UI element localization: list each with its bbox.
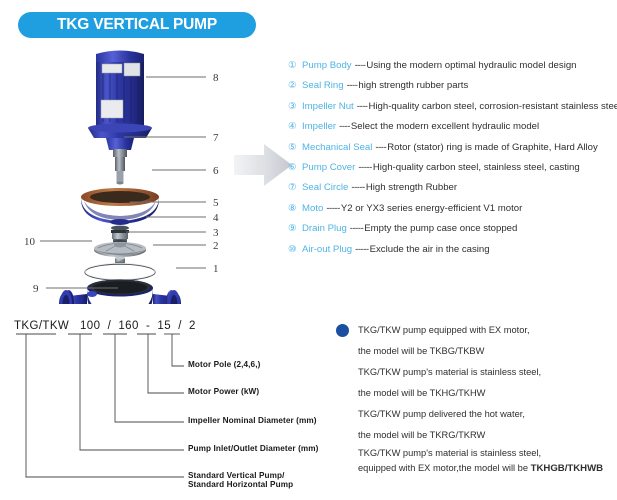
legend-description: High-quality carbon steel, corrosion-res… xyxy=(369,101,617,112)
model-variant-notes: TKG/TKW pump equipped with EX motor, the… xyxy=(334,320,617,476)
legend-dash: ---- xyxy=(375,142,386,153)
legend-description: Select the modern excellent hydraulic mo… xyxy=(351,121,539,132)
legend-part-name: Impeller Nut xyxy=(302,101,354,112)
note-line: TKG/TKW pump's material is stainless ste… xyxy=(358,446,617,461)
legend-item: ⑩ Air-out Plug ----- Exclude the air in … xyxy=(288,244,614,264)
part-pump-body xyxy=(59,279,181,304)
note-line: the model will be TKBG/TKBW xyxy=(358,341,617,362)
callout-7: 7 xyxy=(213,132,219,144)
callout-6: 6 xyxy=(213,165,219,177)
callout-9: 9 xyxy=(33,283,39,295)
note-line-text: equipped with EX motor,the model will be xyxy=(358,463,531,473)
legend-dash: ---- xyxy=(347,80,358,91)
part-seal-ring xyxy=(85,263,155,280)
legend-part-name: Drain Plug xyxy=(302,223,347,234)
model-code-breakdown: TKG/TKW 100 / 160 - 15 / 2 M xyxy=(0,306,320,500)
callout-3: 3 xyxy=(213,227,219,239)
part-shaft xyxy=(113,149,127,185)
part-pump-cover xyxy=(81,188,159,225)
legend-number-icon: ⑨ xyxy=(288,223,302,232)
legend-item: ③ Impeller Nut ---- High-quality carbon … xyxy=(288,101,614,121)
callout-4: 4 xyxy=(213,212,219,224)
legend-dash: ---- xyxy=(357,101,368,112)
legend-description: Using the modern optimal hydraulic model… xyxy=(366,60,576,71)
legend-number-icon: ③ xyxy=(288,101,302,110)
model-label-motor-pole: Motor Pole (2,4,6,) xyxy=(188,360,260,369)
note-line: TKG/TKW pump delivered the hot water, xyxy=(358,404,617,425)
note-line: TKG/TKW pump equipped with EX motor, xyxy=(358,320,617,341)
legend-part-name: Seal Ring xyxy=(302,80,344,91)
legend-item: ⑤ Mechanical Seal ---- Rotor (stator) ri… xyxy=(288,142,614,162)
legend-description: Y2 or YX3 series energy-efficient V1 mot… xyxy=(341,203,523,214)
legend-number-icon: ⑦ xyxy=(288,182,302,191)
callout-5: 5 xyxy=(213,197,219,209)
legend-part-name: Pump Body xyxy=(302,60,352,71)
parts-legend-list: ① Pump Body ---- Using the modern optima… xyxy=(288,60,614,264)
legend-number-icon: ⑤ xyxy=(288,142,302,151)
callout-10: 10 xyxy=(24,236,36,248)
legend-item: ⑨ Drain Plug ----- Empty the pump case o… xyxy=(288,223,614,243)
note-line-with-emphasis: equipped with EX motor,the model will be… xyxy=(358,461,617,476)
note-line: the model will be TKHG/TKHW xyxy=(358,383,617,404)
note-line-bold-model: TKHGB/TKHWB xyxy=(531,463,603,474)
model-label-standard-pump-line1: Standard Vertical Pump/ xyxy=(188,471,293,480)
part-motor xyxy=(88,51,152,151)
legend-dash: ----- xyxy=(351,182,364,193)
bullet-dot-icon xyxy=(336,324,349,337)
legend-part-name: Seal Circle xyxy=(302,182,348,193)
legend-item: ⑥ Pump Cover ----- High-quality carbon s… xyxy=(288,162,614,182)
legend-number-icon: ④ xyxy=(288,121,302,130)
callout-8: 8 xyxy=(213,72,219,84)
legend-item: ① Pump Body ---- Using the modern optima… xyxy=(288,60,614,80)
legend-number-icon: ① xyxy=(288,60,302,69)
legend-description: Exclude the air in the casing xyxy=(370,244,490,255)
legend-description: high strength rubber parts xyxy=(358,80,468,91)
legend-item: ⑦ Seal Circle ----- High strength Rubber xyxy=(288,182,614,202)
legend-dash: ----- xyxy=(358,162,371,173)
model-label-impeller-dia: Impeller Nominal Diameter (mm) xyxy=(188,416,317,425)
legend-dash: ----- xyxy=(326,203,339,214)
right-arrow-icon xyxy=(232,140,294,190)
model-label-inlet-dia: Pump Inlet/Outlet Diameter (mm) xyxy=(188,444,318,453)
model-label-motor-power: Motor Power (kW) xyxy=(188,387,259,396)
page-title-banner: TKG VERTICAL PUMP xyxy=(18,12,256,38)
page-title: TKG VERTICAL PUMP xyxy=(57,16,217,34)
model-label-standard-pump: Standard Vertical Pump/ Standard Horizon… xyxy=(188,471,293,489)
callout-2: 2 xyxy=(213,240,219,252)
legend-part-name: Air-out Plug xyxy=(302,244,352,255)
legend-dash: ---- xyxy=(339,121,350,132)
note-line: the model will be TKRG/TKRW xyxy=(358,425,617,446)
legend-dash: ----- xyxy=(355,244,368,255)
exploded-pump-diagram: 8 7 6 5 4 3 2 1 10 9 xyxy=(0,42,240,304)
legend-number-icon: ⑥ xyxy=(288,162,302,171)
legend-description: High-quality carbon steel, stainless ste… xyxy=(373,162,580,173)
legend-description: Rotor (stator) ring is made of Graphite,… xyxy=(387,142,598,153)
legend-part-name: Pump Cover xyxy=(302,162,355,173)
legend-part-name: Moto xyxy=(302,203,323,214)
legend-number-icon: ⑧ xyxy=(288,203,302,212)
legend-item: ② Seal Ring ---- high strength rubber pa… xyxy=(288,80,614,100)
legend-description: Empty the pump case once stopped xyxy=(364,223,517,234)
callout-1: 1 xyxy=(213,263,219,275)
legend-part-name: Impeller xyxy=(302,121,336,132)
legend-part-name: Mechanical Seal xyxy=(302,142,372,153)
legend-item: ⑧ Moto ----- Y2 or YX3 series energy-eff… xyxy=(288,203,614,223)
part-air-out-plug xyxy=(87,291,97,297)
note-line: TKG/TKW pump's material is stainless ste… xyxy=(358,362,617,383)
legend-item: ④ Impeller ---- Select the modern excell… xyxy=(288,121,614,141)
legend-description: High strength Rubber xyxy=(366,182,457,193)
part-impeller xyxy=(94,242,146,257)
legend-number-icon: ⑩ xyxy=(288,244,302,253)
legend-dash: ----- xyxy=(350,223,363,234)
part-mechanical-seal xyxy=(111,226,129,244)
legend-number-icon: ② xyxy=(288,80,302,89)
legend-dash: ---- xyxy=(355,60,366,71)
model-label-standard-pump-line2: Standard Horizontal Pump xyxy=(188,480,293,489)
